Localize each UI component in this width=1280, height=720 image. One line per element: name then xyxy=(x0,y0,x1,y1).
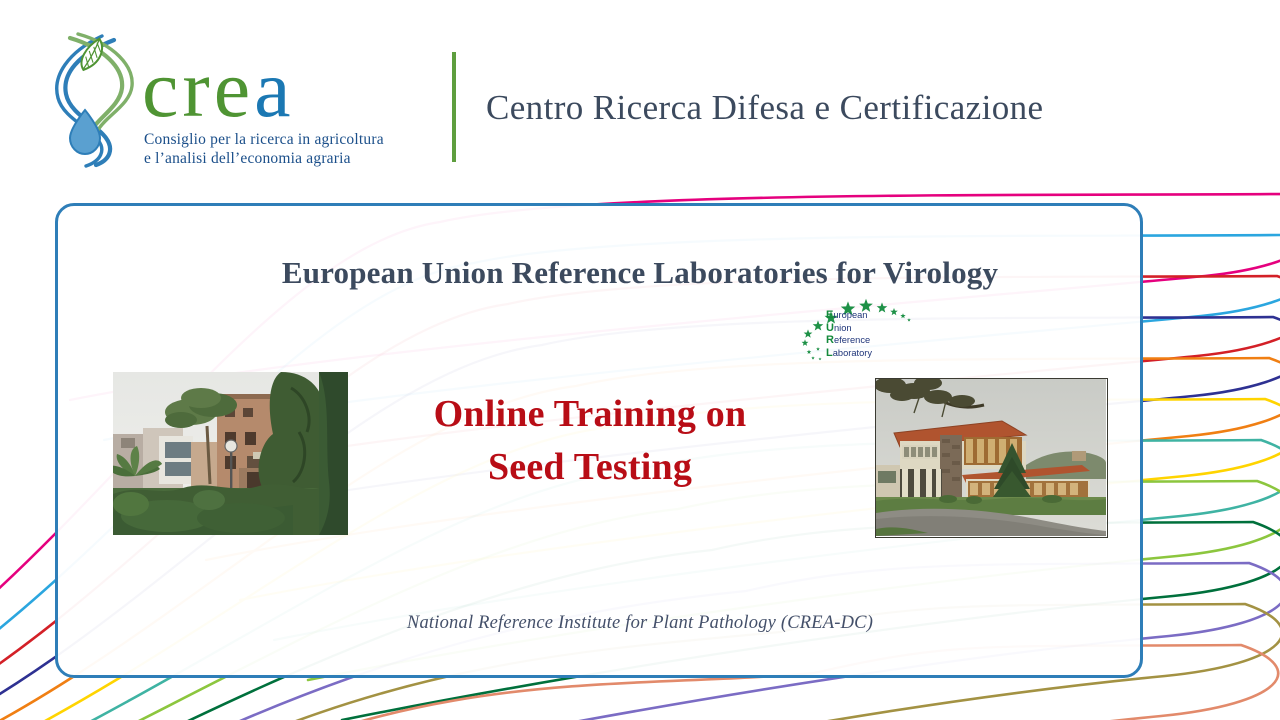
eurl-rest-union: nion xyxy=(834,323,852,333)
photo-right-image xyxy=(876,379,1106,536)
eurl-line-reference: Reference xyxy=(826,334,872,347)
slide-caption: National Reference Institute for Plant P… xyxy=(0,613,1280,634)
eu-star xyxy=(907,318,911,321)
crea-letter-a: a xyxy=(254,43,294,134)
crea-letter-c: c xyxy=(142,43,182,134)
eurl-initial-r: R xyxy=(826,334,834,346)
eu-star xyxy=(804,329,813,337)
crea-logo-subtitle: Consiglio per la ricerca in agricoltura … xyxy=(144,130,384,168)
header-title: Centro Ricerca Difesa e Certificazione xyxy=(486,88,1043,128)
eu-star xyxy=(807,350,812,354)
crea-subtitle-line-2: e l’analisi dell’economia agraria xyxy=(144,149,384,168)
photo-institute-building-garden xyxy=(113,372,348,535)
eurl-line-european: European xyxy=(826,309,872,322)
crea-wordmark: crea xyxy=(142,50,295,128)
eurl-logo-text: European Union Reference Laboratory xyxy=(826,309,872,359)
photo-crea-dc-headquarters xyxy=(875,378,1108,538)
eurl-rest-reference: eference xyxy=(834,335,870,345)
eu-star xyxy=(890,308,898,315)
header-divider xyxy=(452,52,456,162)
eu-star xyxy=(877,302,888,312)
eu-star xyxy=(900,313,905,318)
dna-helix-leaf-waterdrop-icon xyxy=(44,28,144,168)
eurl-star-logo: European Union Reference Laboratory xyxy=(798,296,916,368)
eu-star xyxy=(802,339,809,346)
crea-letter-e: e xyxy=(214,43,254,134)
training-title: Online Training on Seed Testing xyxy=(390,388,790,494)
eurl-initial-l: L xyxy=(826,347,833,359)
crea-subtitle-line-1: Consiglio per la ricerca in agricoltura xyxy=(144,130,384,149)
eu-star xyxy=(816,347,820,351)
eu-star xyxy=(818,357,821,360)
eurl-line-laboratory: Laboratory xyxy=(826,347,872,360)
training-title-line-2: Seed Testing xyxy=(390,441,790,494)
crea-logo: crea Consiglio per la ricerca in agricol… xyxy=(44,28,434,176)
eu-star xyxy=(811,356,814,359)
eu-star xyxy=(813,320,824,330)
crea-letter-r: r xyxy=(182,43,213,134)
eurl-rest-laboratory: aboratory xyxy=(833,348,872,358)
photo-left-image xyxy=(113,372,348,535)
header: crea Consiglio per la ricerca in agricol… xyxy=(0,0,1280,190)
eurl-rest-european: uropean xyxy=(833,310,867,320)
slide-root: crea Consiglio per la ricerca in agricol… xyxy=(0,0,1280,720)
eurl-line-union: Union xyxy=(826,322,872,335)
page-title: European Union Reference Laboratories fo… xyxy=(0,255,1280,291)
training-title-line-1: Online Training on xyxy=(390,388,790,441)
eurl-initial-u: U xyxy=(826,322,834,334)
